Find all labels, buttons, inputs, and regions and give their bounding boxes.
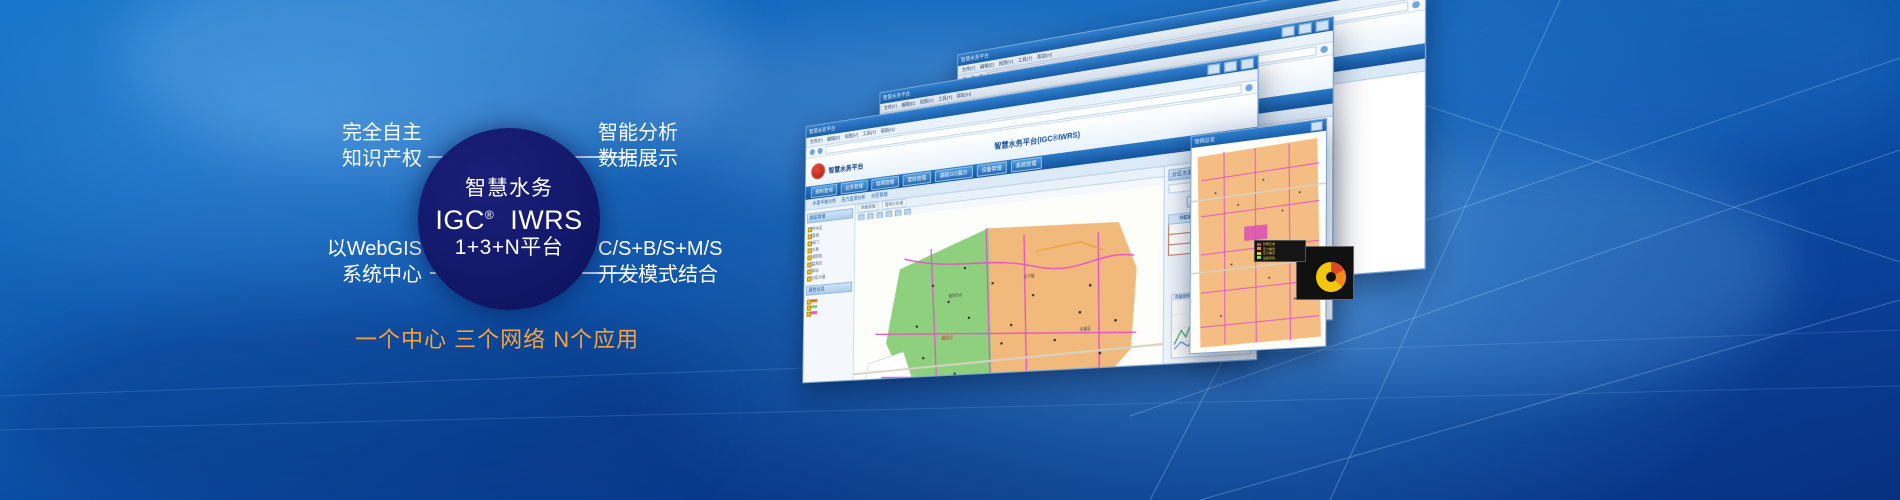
- circle-product-line: IGC® IWRS: [435, 206, 582, 235]
- menu-tools[interactable]: 工具(T): [938, 94, 952, 102]
- menu-file[interactable]: 文件(F): [884, 103, 897, 111]
- menu-help[interactable]: 帮助(H): [1037, 51, 1052, 60]
- legend-swatch-green: [811, 305, 817, 309]
- subnav-item-1[interactable]: 压力监测分析: [841, 194, 865, 203]
- svg-text:漏损点: 漏损点: [941, 334, 953, 340]
- menu-file[interactable]: 文件(F): [962, 65, 976, 73]
- minimize-button[interactable]: [1207, 63, 1220, 76]
- screenshot-stack: 智慧水务平台 文件(F) 编辑(E) 视图(V) 工具(T) 帮助(H): [760, 40, 1380, 370]
- layer-tree-panel[interactable]: 图层管理 供水区 管线 阀门 水表 消防栓 监测点 泵站 分区计量 属性信息: [803, 205, 856, 384]
- light-streak: [1390, 0, 1900, 160]
- registered-mark-icon: ®: [485, 208, 494, 222]
- menu-help[interactable]: 帮助(H): [881, 126, 895, 134]
- menu-tools[interactable]: 工具(T): [863, 129, 876, 137]
- legend-swatch-pink: [811, 311, 817, 315]
- circle-platform-line: 1+3+N平台: [455, 237, 564, 259]
- menu-edit[interactable]: 编辑(E): [827, 134, 840, 142]
- close-button[interactable]: [1316, 19, 1330, 32]
- circle-title: 智慧水务: [465, 178, 553, 200]
- banner-stage: 完全自主 知识产权 智能分析 数据展示 以WebGIS 系统中心 C/S+B/S…: [0, 0, 1900, 500]
- menu-view[interactable]: 视图(V): [920, 97, 934, 105]
- brand-name: 智慧水务平台: [829, 160, 864, 175]
- menu-edit[interactable]: 编辑(E): [902, 100, 916, 108]
- subnav-item-2[interactable]: 分区管理: [871, 191, 888, 199]
- menu-view[interactable]: 视图(V): [845, 132, 859, 140]
- svg-text:支管区: 支管区: [1080, 325, 1092, 332]
- minimize-button[interactable]: [1281, 25, 1294, 38]
- menu-tools[interactable]: 工具(T): [1018, 55, 1032, 64]
- label-bottom-left-line1: 以WebGIS: [280, 236, 422, 262]
- menu-edit[interactable]: 编辑(E): [980, 61, 994, 69]
- window-right-map[interactable]: 管网总览: [1189, 118, 1327, 354]
- label-top-left: 完全自主 知识产权: [302, 120, 422, 173]
- legend-swatch-orange: [811, 299, 817, 303]
- center-circle-badge: 智慧水务 IGC® IWRS 1+3+N平台: [418, 128, 600, 310]
- close-button[interactable]: [1241, 57, 1254, 70]
- app-logo-icon: [811, 162, 825, 180]
- label-top-right-line1: 智能分析: [598, 120, 678, 146]
- product-title: 智慧水务平台(IGC®IWRS): [994, 129, 1080, 152]
- label-bottom-right-line1: C/S+B/S+M/S: [598, 236, 723, 262]
- close-button[interactable]: [1311, 121, 1323, 132]
- refresh-icon[interactable]: [1245, 84, 1252, 92]
- menu-file[interactable]: 文件(F): [810, 137, 823, 145]
- forward-icon[interactable]: [817, 148, 822, 155]
- infographic: 完全自主 知识产权 智能分析 数据展示 以WebGIS 系统中心 C/S+B/S…: [280, 108, 780, 408]
- label-bottom-left: 以WebGIS 系统中心: [280, 236, 422, 289]
- label-bottom-right: C/S+B/S+M/S 开发模式结合: [598, 236, 723, 289]
- label-bottom-left-line2: 系统中心: [280, 262, 422, 288]
- legend-item-3: 设备离线: [1257, 256, 1303, 261]
- map-region-orange: [984, 212, 1137, 383]
- tagline: 一个中心 三个网络 N个应用: [355, 322, 639, 354]
- svg-text:主干管: 主干管: [1024, 272, 1036, 279]
- map-view[interactable]: 地图视图 管网分析图: [853, 167, 1164, 384]
- map-graphics: 管网节点 主干管 支管区 漏损点: [853, 185, 1163, 383]
- label-bottom-right-line2: 开发模式结合: [598, 262, 723, 288]
- label-top-left-line2: 知识产权: [302, 146, 422, 172]
- circle-product-igc: IGC: [435, 205, 485, 235]
- ribbon-icon[interactable]: [1412, 1, 1420, 9]
- subnav-item-0[interactable]: 水量平衡分析: [812, 198, 836, 207]
- gauge-legend: 管网正常 压力偏低 压力偏高 设备离线: [1254, 240, 1306, 262]
- circle-product-iwrs: IWRS: [510, 205, 583, 235]
- map-canvas[interactable]: 管网节点 主干管 支管区 漏损点: [853, 185, 1163, 383]
- maximize-button[interactable]: [1298, 22, 1311, 35]
- back-icon[interactable]: [810, 149, 815, 156]
- window-title: 管网总览: [1195, 136, 1215, 146]
- refresh-icon[interactable]: [1320, 45, 1327, 53]
- label-top-right-line2: 数据展示: [598, 146, 678, 172]
- maximize-button[interactable]: [1224, 60, 1237, 73]
- label-top-right: 智能分析 数据展示: [598, 120, 678, 173]
- menu-help[interactable]: 帮助(H): [957, 91, 972, 100]
- label-top-left-line1: 完全自主: [302, 120, 422, 146]
- menu-view[interactable]: 视图(V): [999, 58, 1013, 67]
- map-alert-label: 漏损点: [941, 334, 953, 340]
